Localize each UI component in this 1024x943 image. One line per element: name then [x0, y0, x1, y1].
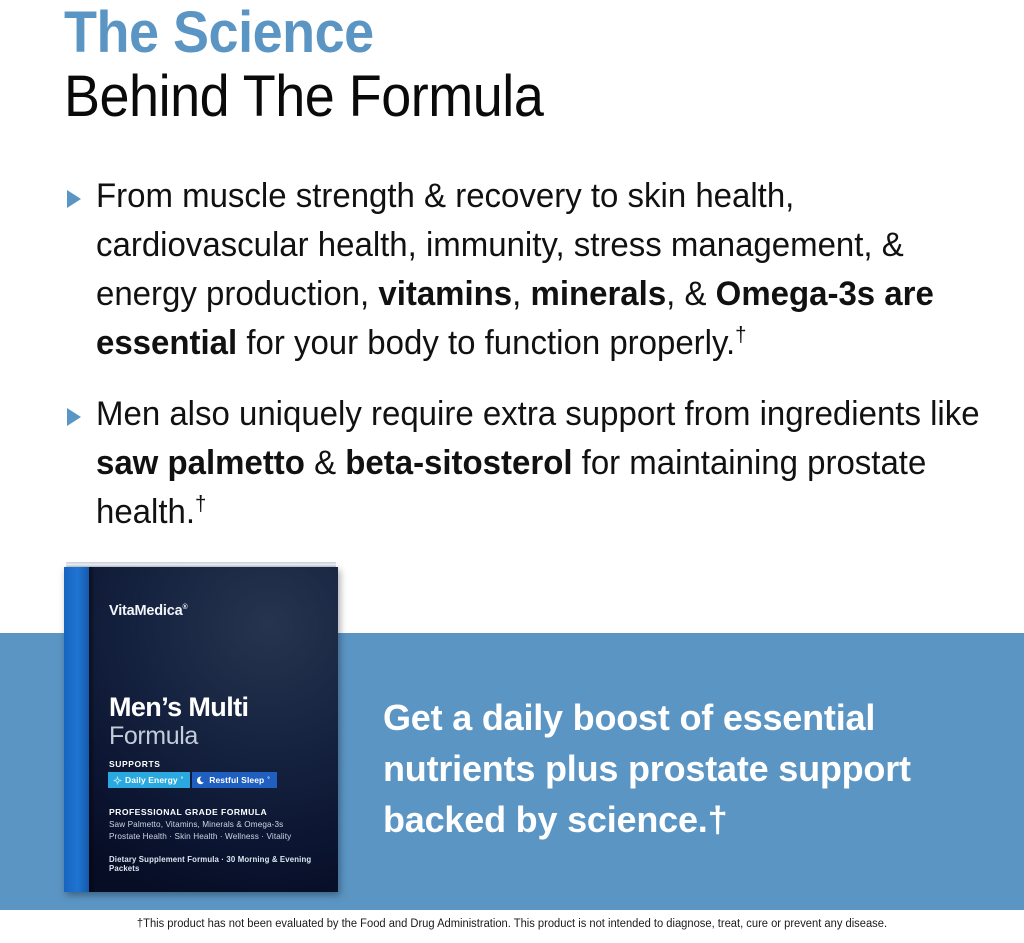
badge-label: Daily Energy	[125, 775, 178, 785]
brand-logo: VitaMedica®	[109, 603, 187, 619]
list-item: From muscle strength & recovery to skin …	[64, 172, 1019, 368]
benefits-list: From muscle strength & recovery to skin …	[64, 172, 1019, 559]
supports-badges: Daily Energy° Restful Sleep°	[108, 772, 277, 788]
moon-icon	[197, 776, 206, 785]
brand-name: VitaMedica	[109, 603, 183, 619]
headline-accent: The Science	[64, 2, 901, 64]
triangle-right-icon	[64, 406, 86, 428]
package-benefits-line: Prostate Health · Skin Health · Wellness…	[109, 831, 329, 843]
status-badge-daily-energy: Daily Energy°	[108, 772, 190, 788]
list-item-text: From muscle strength & recovery to skin …	[96, 172, 991, 368]
registered-trademark-icon: ®	[183, 604, 188, 611]
package-body: VitaMedica® Men’s Multi Formula SUPPORTS…	[64, 567, 338, 892]
package-info-block: PROFESSIONAL GRADE FORMULA Saw Palmetto,…	[109, 807, 329, 842]
list-item: Men also uniquely require extra support …	[64, 390, 1019, 537]
product-package-image: VitaMedica® Men’s Multi Formula SUPPORTS…	[64, 562, 338, 892]
package-spine-shadow	[89, 567, 95, 892]
page-title: The Science Behind The Formula	[64, 2, 964, 130]
package-packets-line: Dietary Supplement Formula · 30 Morning …	[109, 855, 338, 873]
status-badge-restful-sleep: Restful Sleep°	[192, 772, 277, 788]
supports-label: SUPPORTS	[109, 759, 161, 769]
badge-mark: °	[181, 777, 184, 783]
product-subtitle: Formula	[109, 722, 198, 750]
product-name: Men’s Multi	[109, 692, 248, 722]
list-item-text: Men also uniquely require extra support …	[96, 390, 991, 537]
triangle-right-icon	[64, 188, 86, 210]
package-ingredients-line: Saw Palmetto, Vitamins, Minerals & Omega…	[109, 819, 329, 831]
badge-label: Restful Sleep	[209, 775, 264, 785]
package-spine	[64, 567, 89, 892]
badge-mark: °	[267, 777, 270, 783]
sun-icon	[113, 776, 122, 785]
headline-main: Behind The Formula	[64, 64, 901, 130]
promo-banner-headline: Get a daily boost of essential nutrients…	[383, 692, 983, 845]
package-info-title: PROFESSIONAL GRADE FORMULA	[109, 807, 329, 817]
fda-disclaimer: †This product has not been evaluated by …	[15, 918, 1008, 930]
